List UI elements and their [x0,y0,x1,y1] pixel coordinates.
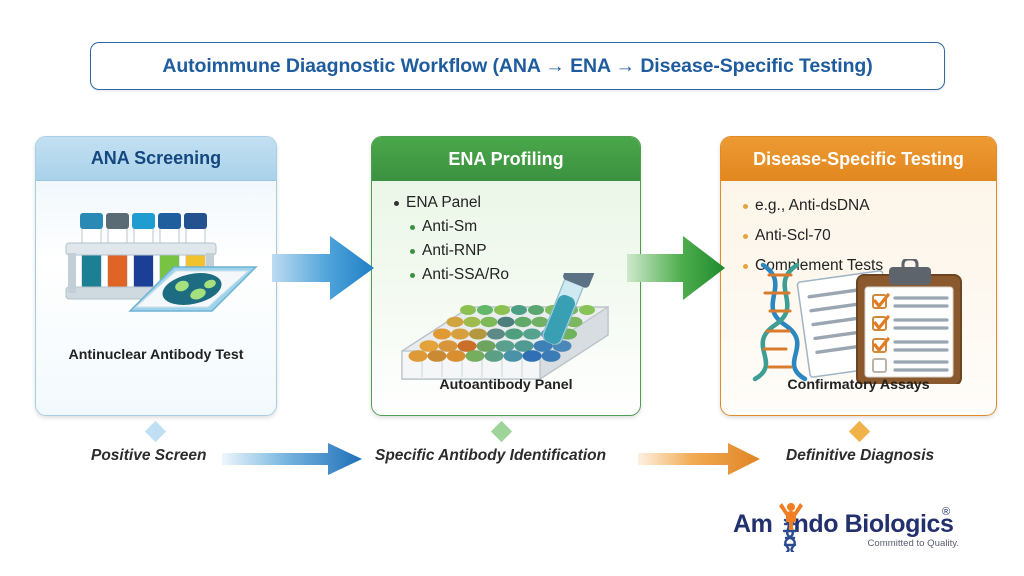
panel-dst-body: e.g., Anti-dsDNA Anti-Scl-70 Complement … [721,181,996,415]
list-item: Anti-RNP [390,239,509,263]
panel-ana-screening: ANA Screening [35,136,277,416]
step-arrow-blue [222,441,364,482]
registered-trademark-symbol: ® [942,506,950,518]
logo-tagline: Committed to Quality. [867,538,959,549]
panel-ena-header: ENA Profiling [372,137,640,181]
human-dna-figure-icon [776,500,806,557]
step-label-positive-screen: Positive Screen [91,447,206,465]
page-title: Autoimmune Diaagnostic Workflow (ANA → E… [162,55,872,78]
panel-dst-header: Disease-Specific Testing [721,137,996,181]
logo-wordmark: Amndo Biologics [733,510,954,539]
panel-ana-header: ANA Screening [36,137,276,181]
logo-name-part1: Am [733,510,772,538]
step-label-definitive-diagnosis: Definitive Diagnosis [786,447,934,465]
step-label-specific-antibody-identification: Specific Antibody Identification [375,447,606,465]
panel-ena-body: ENA Panel Anti-Sm Anti-RNP Anti-SSA/Ro [372,181,640,415]
connector-arrow-ena-to-dst [627,232,727,309]
company-logo: Amndo Biologics ® Committed to Quality. [733,500,963,558]
dna-clipboard-checklist-icon [745,259,975,389]
list-item: ENA Panel [390,191,509,215]
list-item: Anti-Sm [390,215,509,239]
panel-ana-caption: Antinuclear Antibody Test [36,347,276,363]
panel-ena-caption: Autoantibody Panel [372,377,640,393]
panel-dst-caption: Confirmatory Assays [721,377,996,393]
panel-ena-profiling: ENA Profiling ENA Panel Anti-Sm Anti-RNP… [371,136,641,416]
step-arrow-orange [638,441,762,482]
panel-disease-specific-testing: Disease-Specific Testing e.g., Anti-dsDN… [720,136,997,416]
test-tube-rack-and-slide-icon [58,203,258,348]
list-item: Anti-Scl-70 [739,221,883,251]
logo-name-part2: ndo Biologics [793,510,953,538]
step-marker-diamond-1 [145,421,166,442]
panel-ana-body: Antinuclear Antibody Test [36,181,276,415]
step-marker-diamond-2 [491,421,512,442]
list-item: e.g., Anti-dsDNA [739,191,883,221]
connector-arrow-ana-to-ena [272,232,376,309]
step-marker-diamond-3 [849,421,870,442]
page-title-box: Autoimmune Diaagnostic Workflow (ANA → E… [90,42,945,90]
